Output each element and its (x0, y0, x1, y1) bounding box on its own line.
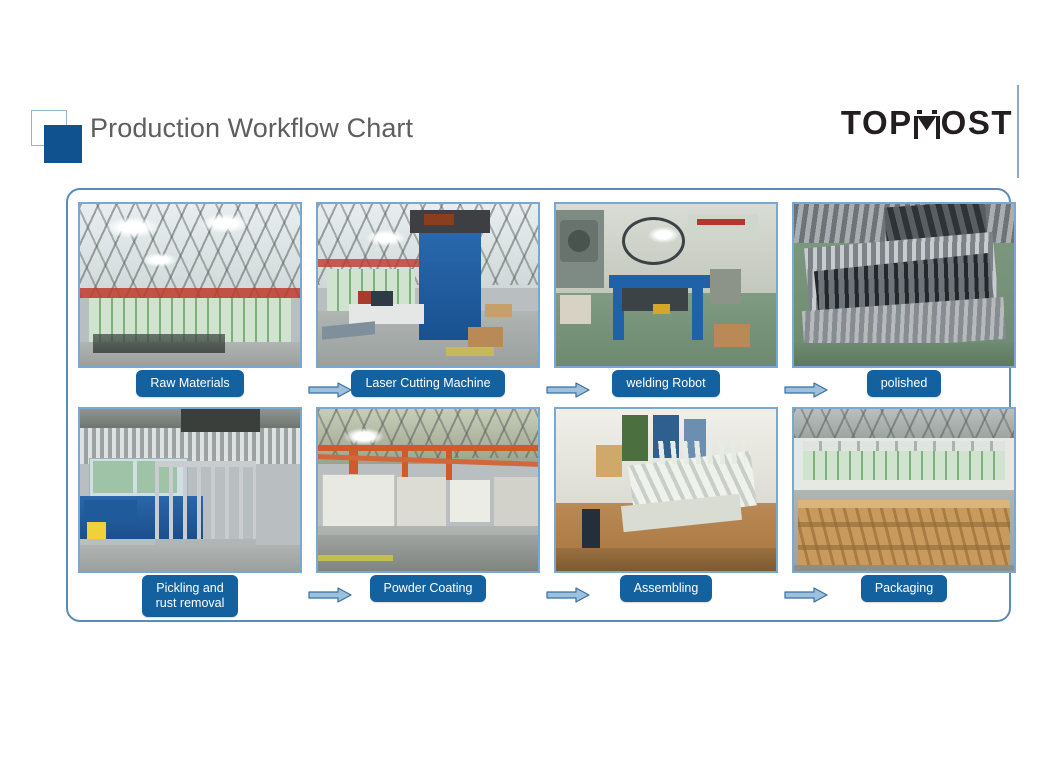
photo-packaging (792, 407, 1016, 573)
workflow-row-2: Pickling and rust removal (68, 395, 1013, 610)
header-divider (1017, 85, 1019, 178)
workflow-step-raw-materials[interactable]: Raw Materials (78, 190, 302, 405)
brand-logo-m-icon (914, 110, 940, 139)
brand-logo: TOP OST (841, 103, 1013, 141)
step-label-assembling[interactable]: Assembling (620, 575, 713, 602)
workflow-step-label-wrap: Assembling (554, 575, 778, 609)
photo-polished (792, 202, 1016, 368)
brand-logo-text: TOP OST (841, 106, 1013, 139)
brand-logo-text-before: TOP (841, 106, 913, 139)
square-filled-shape (44, 125, 82, 163)
step-label-raw-materials[interactable]: Raw Materials (136, 370, 243, 397)
workflow-panel: Raw Materials (66, 188, 1011, 622)
step-label-pickling-rust-removal[interactable]: Pickling and rust removal (142, 575, 239, 617)
page-header: Production Workflow Chart TOP OST (0, 0, 1060, 180)
step-label-powder-coating[interactable]: Powder Coating (370, 575, 487, 602)
photo-welding-robot (554, 202, 778, 368)
step-label-welding-robot[interactable]: welding Robot (612, 370, 719, 397)
workflow-step-label-wrap: Pickling and rust removal (78, 575, 302, 609)
workflow-step-polished[interactable]: polished (792, 190, 1016, 405)
workflow-row-1: Raw Materials (68, 190, 1013, 405)
brand-logo-text-after: OST (941, 106, 1013, 139)
workflow-step-assembling[interactable]: Assembling (554, 395, 778, 610)
workflow-step-label-wrap: Packaging (792, 575, 1016, 609)
photo-pickling-rust-removal (78, 407, 302, 573)
workflow-step-label-wrap: Powder Coating (316, 575, 540, 609)
photo-powder-coating (316, 407, 540, 573)
photo-assembling (554, 407, 778, 573)
title-decoration-icon (31, 110, 87, 166)
workflow-step-powder-coating[interactable]: Powder Coating (316, 395, 540, 610)
step-label-polished[interactable]: polished (867, 370, 942, 397)
workflow-step-laser-cutting-machine[interactable]: Laser Cutting Machine (316, 190, 540, 405)
step-label-packaging[interactable]: Packaging (861, 575, 947, 602)
workflow-step-pickling-rust-removal[interactable]: Pickling and rust removal (78, 395, 302, 610)
photo-raw-materials (78, 202, 302, 368)
photo-laser-cutting-machine (316, 202, 540, 368)
step-label-laser-cutting-machine[interactable]: Laser Cutting Machine (351, 370, 504, 397)
workflow-step-packaging[interactable]: Packaging (792, 395, 1016, 610)
page-title: Production Workflow Chart (90, 113, 413, 144)
workflow-step-welding-robot[interactable]: welding Robot (554, 190, 778, 405)
